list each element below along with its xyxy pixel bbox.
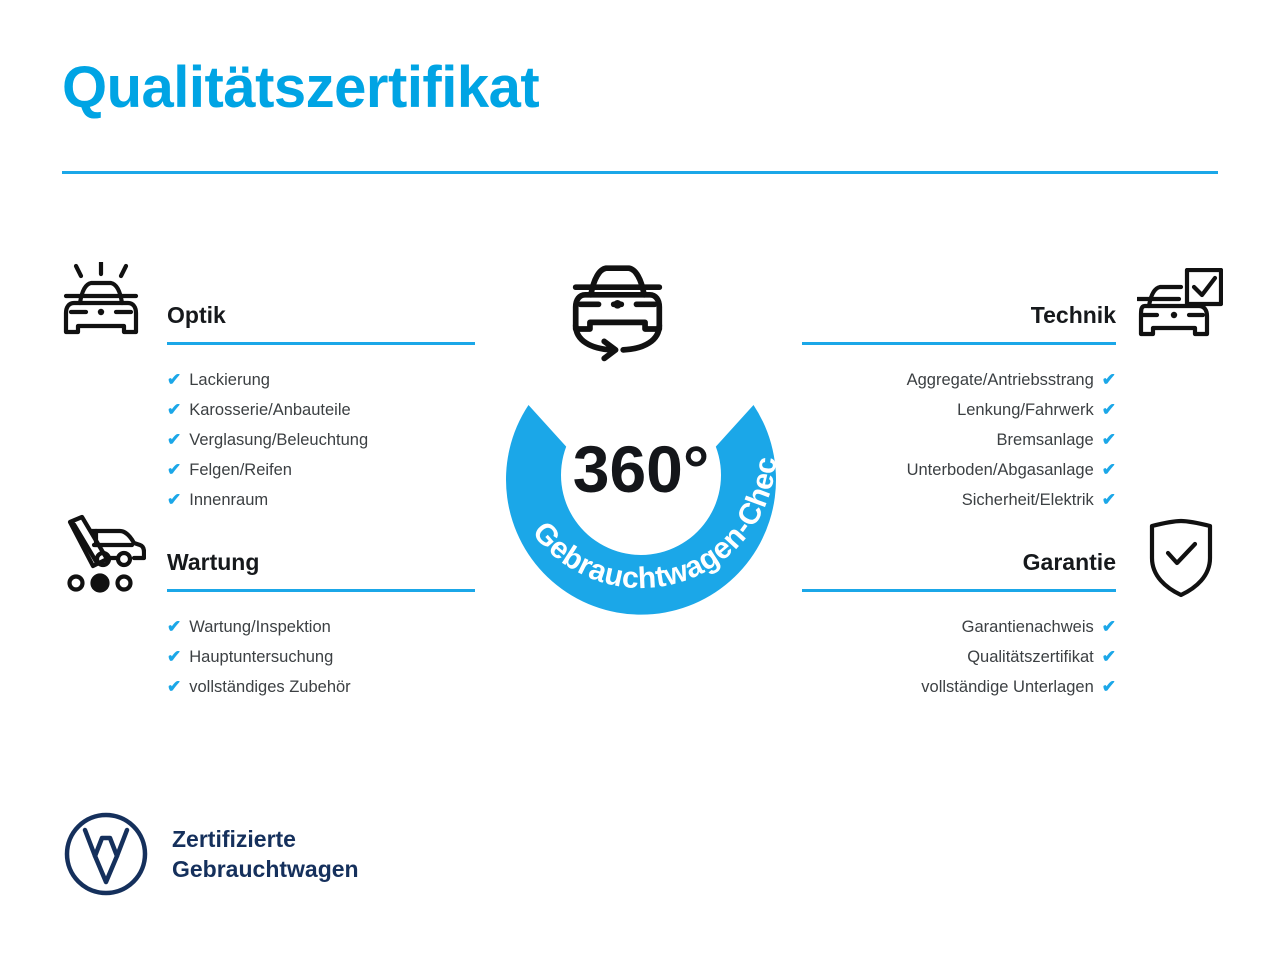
check-icon: ✔ — [167, 485, 181, 515]
shield-check-icon — [1148, 518, 1214, 598]
list-item-label: Innenraum — [189, 485, 268, 515]
list-item: Qualitätszertifikat ✔ — [802, 642, 1116, 672]
list-item-label: Sicherheit/Elektrik — [962, 485, 1094, 515]
car-rotation-icon — [576, 268, 660, 358]
check-icon: ✔ — [1102, 612, 1116, 642]
list-item-label: Verglasung/Beleuchtung — [189, 425, 368, 455]
list-item: ✔ Innenraum — [167, 485, 475, 515]
section-items-technik: Aggregate/Antriebsstrang ✔ Lenkung/Fahrw… — [802, 365, 1116, 515]
check-icon: ✔ — [1102, 455, 1116, 485]
vw-certified-lockup: Zertifizierte Gebrauchtwagen — [64, 812, 359, 896]
list-item: ✔ Wartung/Inspektion — [167, 612, 475, 642]
page-title: Qualitätszertifikat — [62, 58, 539, 119]
car-front-shine-icon — [62, 262, 140, 346]
badge-ring-text: Gebrauchtwagen-Check — [466, 247, 783, 595]
list-item-label: Felgen/Reifen — [189, 455, 292, 485]
pencil-car-service-icon — [60, 512, 146, 594]
section-title-wartung: Wartung — [167, 551, 475, 574]
list-item: vollständige Unterlagen ✔ — [802, 672, 1116, 702]
lockup-line-1: Zertifizierte — [172, 824, 359, 854]
vw-logo-icon — [64, 812, 148, 896]
list-item-label: Hauptuntersuchung — [189, 642, 333, 672]
section-wartung: Wartung ✔ Wartung/Inspektion ✔ Hauptunte… — [167, 551, 475, 702]
list-item: Unterboden/Abgasanlage ✔ — [802, 455, 1116, 485]
check-icon: ✔ — [167, 395, 181, 425]
list-item-label: vollständiges Zubehör — [189, 672, 350, 702]
list-item-label: Bremsanlage — [997, 425, 1094, 455]
list-item: ✔ Felgen/Reifen — [167, 455, 475, 485]
lockup-text: Zertifizierte Gebrauchtwagen — [172, 824, 359, 885]
check-icon: ✔ — [1102, 425, 1116, 455]
check-icon: ✔ — [1102, 395, 1116, 425]
badge-center-text: 360° — [573, 432, 710, 506]
list-item-label: Unterboden/Abgasanlage — [907, 455, 1094, 485]
section-title-optik: Optik — [167, 304, 475, 327]
section-garantie: Garantie Garantienachweis ✔ Qualitätszer… — [802, 551, 1116, 702]
list-item: Aggregate/Antriebsstrang ✔ — [802, 365, 1116, 395]
list-item: Bremsanlage ✔ — [802, 425, 1116, 455]
list-item: ✔ vollständiges Zubehör — [167, 672, 475, 702]
section-items-optik: ✔ Lackierung ✔ Karosserie/Anbauteile ✔ V… — [167, 365, 475, 515]
title-divider — [62, 171, 1218, 174]
section-divider-technik — [802, 342, 1116, 345]
list-item-label: Lenkung/Fahrwerk — [957, 395, 1094, 425]
check-icon: ✔ — [1102, 642, 1116, 672]
check-icon: ✔ — [167, 365, 181, 395]
check-icon: ✔ — [167, 642, 181, 672]
check-icon: ✔ — [1102, 365, 1116, 395]
list-item-label: Karosserie/Anbauteile — [189, 395, 350, 425]
section-items-wartung: ✔ Wartung/Inspektion ✔ Hauptuntersuchung… — [167, 612, 475, 702]
section-divider-wartung — [167, 589, 475, 592]
section-technik: Technik Aggregate/Antriebsstrang ✔ Lenku… — [802, 304, 1116, 515]
section-optik: Optik ✔ Lackierung ✔ Karosserie/Anbautei… — [167, 304, 475, 515]
check-icon: ✔ — [167, 455, 181, 485]
check-icon: ✔ — [1102, 485, 1116, 515]
quality-certificate-page: Qualitätszertifikat Optik ✔ — [0, 0, 1280, 960]
check-icon: ✔ — [1102, 672, 1116, 702]
gebrauchtwagen-check-badge: Gebrauchtwagen-Check 360° — [466, 247, 816, 637]
list-item-label: Lackierung — [189, 365, 270, 395]
list-item-label: Qualitätszertifikat — [967, 642, 1094, 672]
lockup-line-2: Gebrauchtwagen — [172, 854, 359, 884]
section-title-technik: Technik — [802, 304, 1116, 327]
section-title-garantie: Garantie — [802, 551, 1116, 574]
list-item: ✔ Verglasung/Beleuchtung — [167, 425, 475, 455]
list-item: ✔ Karosserie/Anbauteile — [167, 395, 475, 425]
list-item-label: vollständige Unterlagen — [921, 672, 1093, 702]
list-item-label: Garantienachweis — [962, 612, 1094, 642]
list-item: ✔ Lackierung — [167, 365, 475, 395]
section-items-garantie: Garantienachweis ✔ Qualitätszertifikat ✔… — [802, 612, 1116, 702]
check-icon: ✔ — [167, 425, 181, 455]
car-front-checkbox-icon — [1137, 268, 1223, 346]
section-divider-garantie — [802, 589, 1116, 592]
section-divider-optik — [167, 342, 475, 345]
list-item-label: Wartung/Inspektion — [189, 612, 331, 642]
check-icon: ✔ — [167, 612, 181, 642]
list-item: ✔ Hauptuntersuchung — [167, 642, 475, 672]
list-item: Sicherheit/Elektrik ✔ — [802, 485, 1116, 515]
check-icon: ✔ — [167, 672, 181, 702]
list-item-label: Aggregate/Antriebsstrang — [907, 365, 1094, 395]
list-item: Garantienachweis ✔ — [802, 612, 1116, 642]
list-item: Lenkung/Fahrwerk ✔ — [802, 395, 1116, 425]
